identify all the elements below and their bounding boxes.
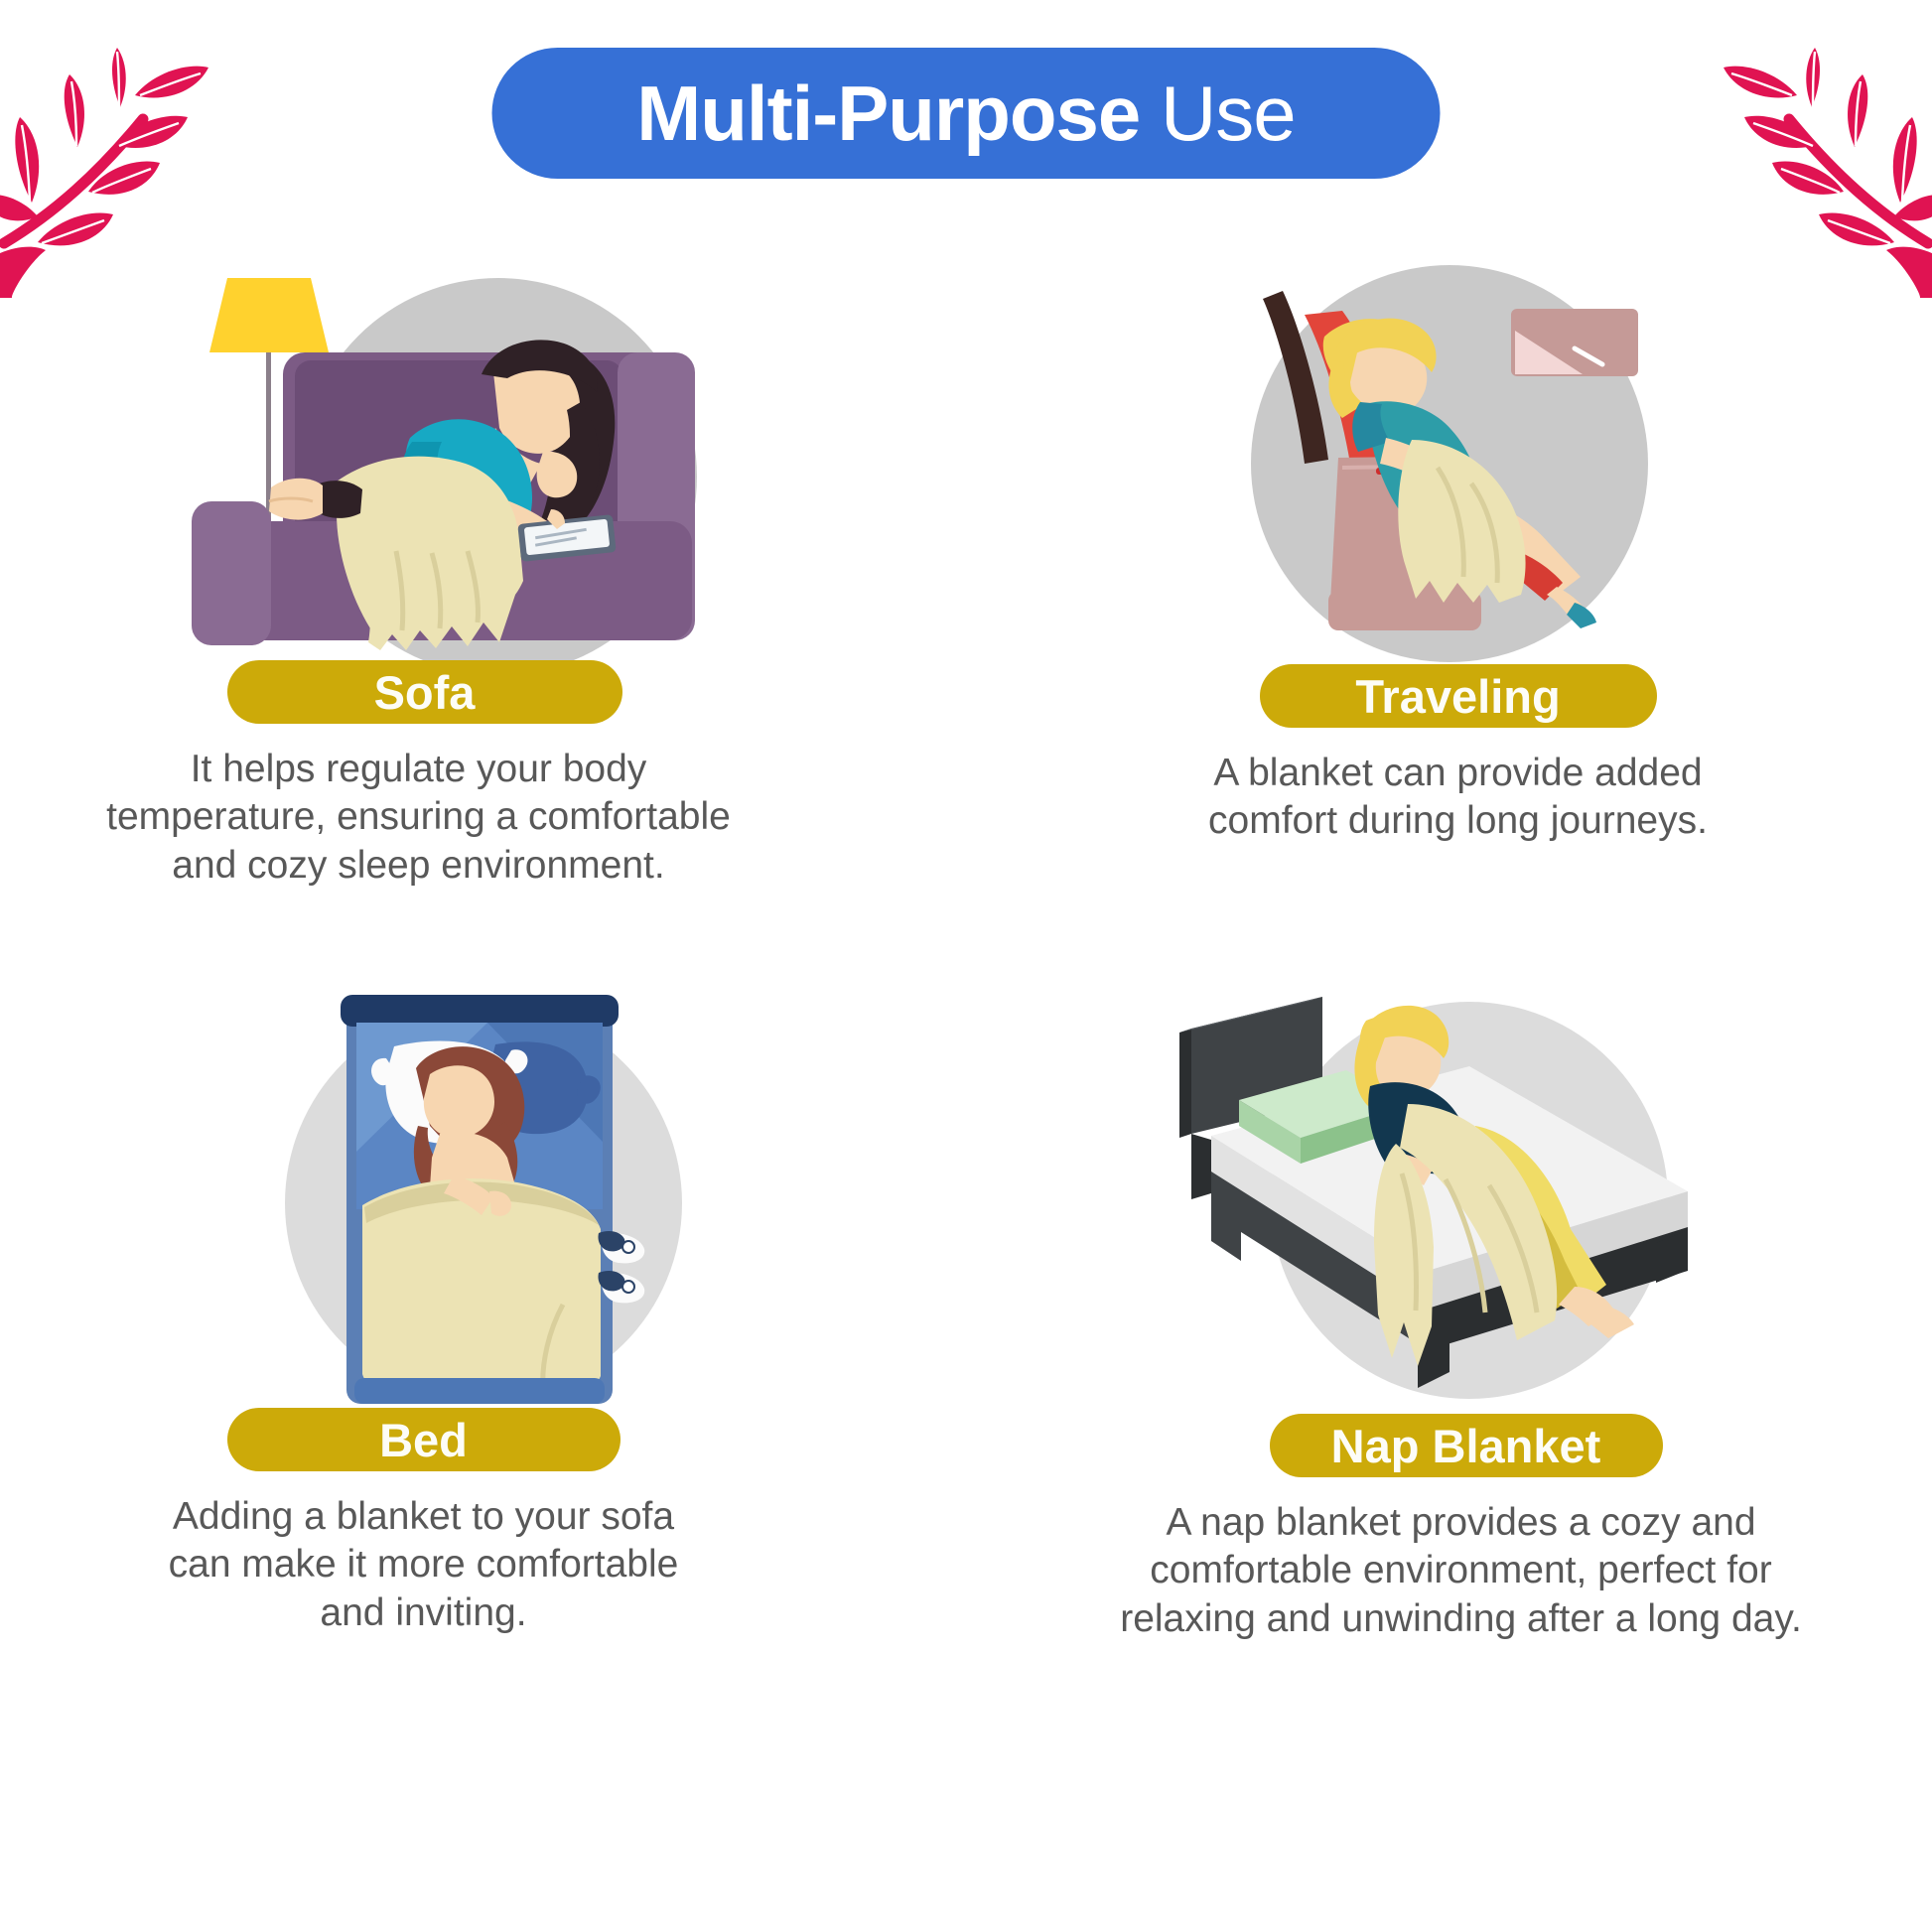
panel-caption-bed: Adding a blanket to your sofa can make i…	[47, 1493, 801, 1637]
bed-illustration	[245, 977, 722, 1424]
panel-grid: Sofa It helps regulate your body tempera…	[0, 253, 1932, 1643]
sofa-illustration	[166, 253, 801, 680]
panel-label-nap-blanket[interactable]: Nap Blanket	[1270, 1414, 1663, 1477]
panel-label-text: Nap Blanket	[1331, 1423, 1601, 1469]
page-title: Multi-Purpose Use	[636, 74, 1295, 152]
panel-caption-nap-blanket: A nap blanket provides a cozy and comfor…	[1049, 1499, 1873, 1643]
panel-caption-traveling: A blanket can provide added comfort duri…	[1081, 750, 1836, 846]
infographic-canvas: Multi-Purpose Use	[0, 0, 1932, 1932]
panel-traveling[interactable]: Traveling A blanket can provide added co…	[966, 253, 1932, 890]
page-title-strong: Multi-Purpose	[636, 69, 1140, 157]
panel-sofa[interactable]: Sofa It helps regulate your body tempera…	[0, 253, 966, 890]
panel-bed[interactable]: Bed Adding a blanket to your sofa can ma…	[0, 977, 966, 1643]
page-title-light: Use	[1161, 69, 1296, 157]
panel-nap-blanket[interactable]: Nap Blanket A nap blanket provides a coz…	[966, 977, 1932, 1643]
panel-label-traveling[interactable]: Traveling	[1260, 664, 1657, 728]
panel-label-sofa[interactable]: Sofa	[227, 660, 622, 724]
panel-caption-sofa: It helps regulate your body temperature,…	[37, 746, 801, 890]
panel-label-text: Traveling	[1355, 673, 1560, 720]
panel-label-bed[interactable]: Bed	[227, 1408, 621, 1471]
panel-label-text: Sofa	[374, 669, 476, 716]
panel-label-text: Bed	[379, 1417, 468, 1463]
panel-row-top: Sofa It helps regulate your body tempera…	[0, 253, 1932, 890]
page-title-banner: Multi-Purpose Use	[492, 48, 1441, 179]
nap-blanket-illustration	[1172, 977, 1727, 1424]
panel-row-bottom: Bed Adding a blanket to your sofa can ma…	[0, 977, 1932, 1643]
traveling-illustration	[1201, 253, 1698, 680]
